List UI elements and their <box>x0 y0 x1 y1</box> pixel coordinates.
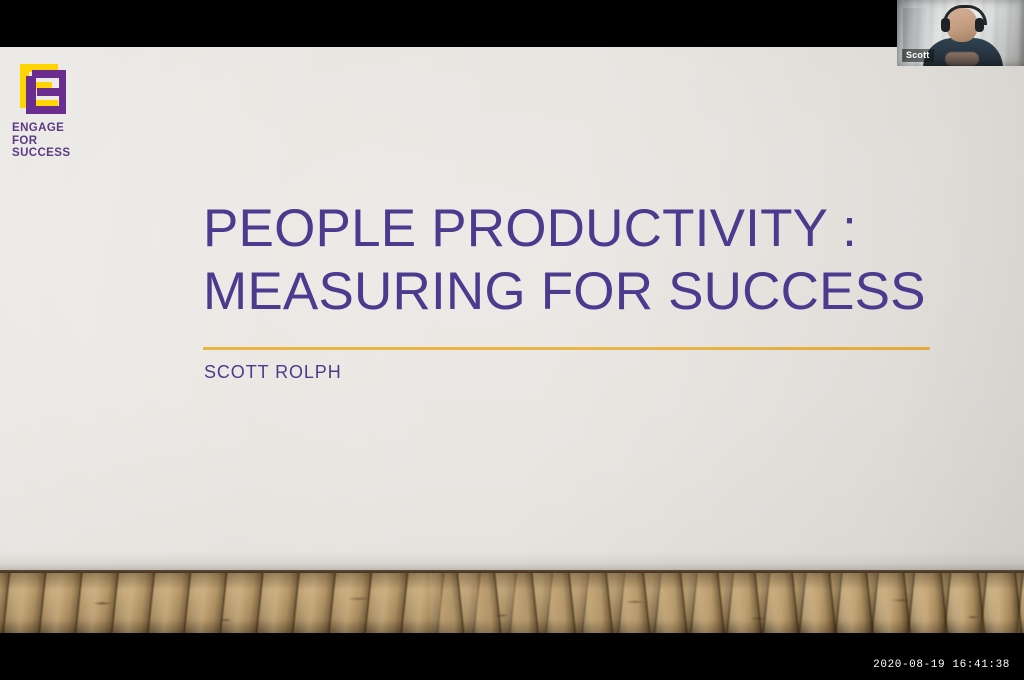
participant-name-label: Scott <box>902 49 934 62</box>
logo-word-line-2: FOR <box>12 135 88 148</box>
slide-subtitle-presenter-name: SCOTT ROLPH <box>204 362 342 383</box>
title-divider-rule <box>203 347 930 350</box>
letterbox-band-bottom <box>0 633 1024 680</box>
floor-planks-right <box>430 573 1024 633</box>
letterbox-band-top <box>0 0 1024 47</box>
wooden-floor <box>0 573 1024 633</box>
headphones-earcup-left-icon <box>941 18 950 32</box>
participant-hands <box>945 52 979 66</box>
recording-timestamp: 2020-08-19 16:41:38 <box>873 659 1010 672</box>
engage-for-success-mark-icon <box>12 58 74 120</box>
logo-word-line-1: ENGAGE <box>12 122 88 135</box>
logo-wordmark: ENGAGE FOR SUCCESS <box>12 122 88 160</box>
video-player-screen: ENGAGE FOR SUCCESS PEOPLE PRODUCTIVITY :… <box>0 0 1024 680</box>
engage-for-success-logo: ENGAGE FOR SUCCESS <box>12 58 88 160</box>
headphones-earcup-right-icon <box>975 18 984 32</box>
participant-video-tile[interactable]: Scott <box>897 0 1024 66</box>
logo-word-line-3: SUCCESS <box>12 147 88 160</box>
presentation-scene: ENGAGE FOR SUCCESS PEOPLE PRODUCTIVITY :… <box>0 47 1024 633</box>
slide-title: PEOPLE PRODUCTIVITY : MEASURING FOR SUCC… <box>203 197 963 323</box>
